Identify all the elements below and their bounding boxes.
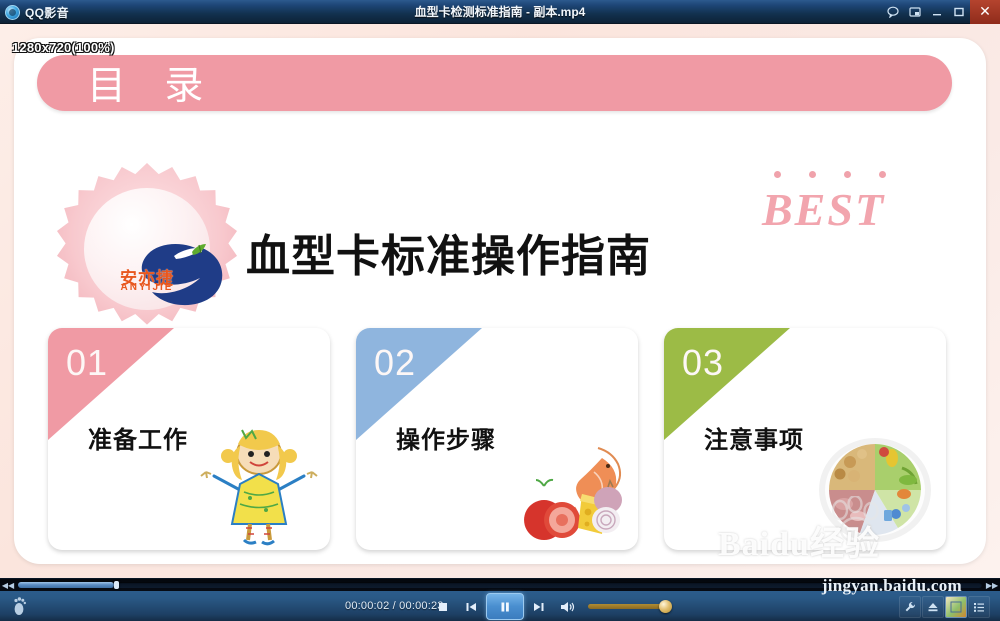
minimize-button[interactable]	[926, 1, 948, 23]
volume-slider[interactable]	[588, 593, 676, 620]
footprint-icon[interactable]	[12, 595, 28, 617]
player-controls-bar: ◀◀ jingyan.baidu.com ▶▶ 00:00:02 / 00:00…	[0, 578, 1000, 621]
seek-progress-fill	[18, 582, 114, 588]
stop-button[interactable]	[430, 594, 456, 620]
slide-frame: 目 录 安亦捷 ANYIJIE	[0, 24, 1000, 578]
app-name: QQ影音	[25, 4, 69, 21]
previous-button[interactable]	[458, 594, 484, 620]
playlist-icon[interactable]	[968, 596, 990, 618]
time-display: 00:00:02 / 00:00:23	[345, 591, 444, 621]
watermark-brand: Baidu经验	[718, 516, 880, 564]
wrench-icon[interactable]	[899, 596, 921, 618]
agenda-card-02[interactable]: 02 操作步骤	[356, 328, 638, 550]
title-bar-left: QQ影音	[5, 0, 69, 24]
logo-disc: 安亦捷 ANYIJIE	[84, 188, 210, 310]
card-label: 准备工作	[88, 420, 188, 455]
window-controls: ✕	[882, 0, 1000, 24]
card-label: 注意事项	[704, 420, 804, 455]
comment-icon[interactable]	[882, 1, 904, 23]
window-title: 血型卡检测标准指南 - 副本.mp4	[0, 0, 1000, 24]
playback-buttons	[430, 591, 676, 621]
volume-track	[588, 604, 670, 609]
seek-forward-icon[interactable]: ▶▶	[984, 579, 1000, 591]
maximize-button[interactable]	[948, 1, 970, 23]
baidu-watermark: Baidu经验	[718, 510, 978, 560]
close-button[interactable]: ✕	[970, 0, 1000, 24]
card-number: 03	[682, 342, 724, 384]
eject-icon[interactable]	[922, 596, 944, 618]
volume-handle[interactable]	[659, 600, 672, 613]
title-bar: QQ影音 血型卡检测标准指南 - 副本.mp4 ✕	[0, 0, 1000, 24]
company-logo-badge: 安亦捷 ANYIJIE	[52, 158, 242, 340]
screen-icon[interactable]	[904, 1, 926, 23]
play-pause-button[interactable]	[486, 593, 524, 620]
next-button[interactable]	[526, 594, 552, 620]
qq-logo-icon	[5, 5, 20, 20]
slide-canvas: 目 录 安亦捷 ANYIJIE	[14, 38, 986, 564]
agenda-card-01[interactable]: 01 准备工作	[48, 328, 330, 550]
card-number: 02	[374, 342, 416, 384]
banner-title: 目 录	[87, 55, 216, 111]
seek-back-icon[interactable]: ◀◀	[0, 579, 16, 591]
logo-english-name: ANYIJIE	[84, 282, 210, 293]
best-decoration: BEST	[762, 171, 912, 233]
qq-player-window: QQ影音 血型卡检测标准指南 - 副本.mp4 ✕ 1280x720(100%)	[0, 0, 1000, 621]
best-word: BEST	[762, 183, 885, 236]
snapshot-icon[interactable]	[945, 596, 967, 618]
food-ingredients-art-icon	[502, 428, 632, 546]
slide-main-title: 血型卡标准操作指南	[246, 220, 651, 284]
seek-handle[interactable]	[114, 581, 119, 589]
volume-icon[interactable]	[554, 594, 580, 620]
slide-banner: 目 录	[37, 55, 952, 111]
seek-bar-row: ◀◀ jingyan.baidu.com ▶▶	[0, 579, 1000, 591]
card-label: 操作步骤	[396, 420, 496, 455]
best-dots	[774, 171, 886, 178]
video-surface[interactable]: 1280x720(100%) 目 录	[0, 24, 1000, 578]
watermark-url: jingyan.baidu.com	[822, 576, 962, 596]
card-number: 01	[66, 342, 108, 384]
resolution-osd: 1280x720(100%)	[12, 40, 115, 55]
girl-drawing-art-icon	[194, 428, 324, 546]
